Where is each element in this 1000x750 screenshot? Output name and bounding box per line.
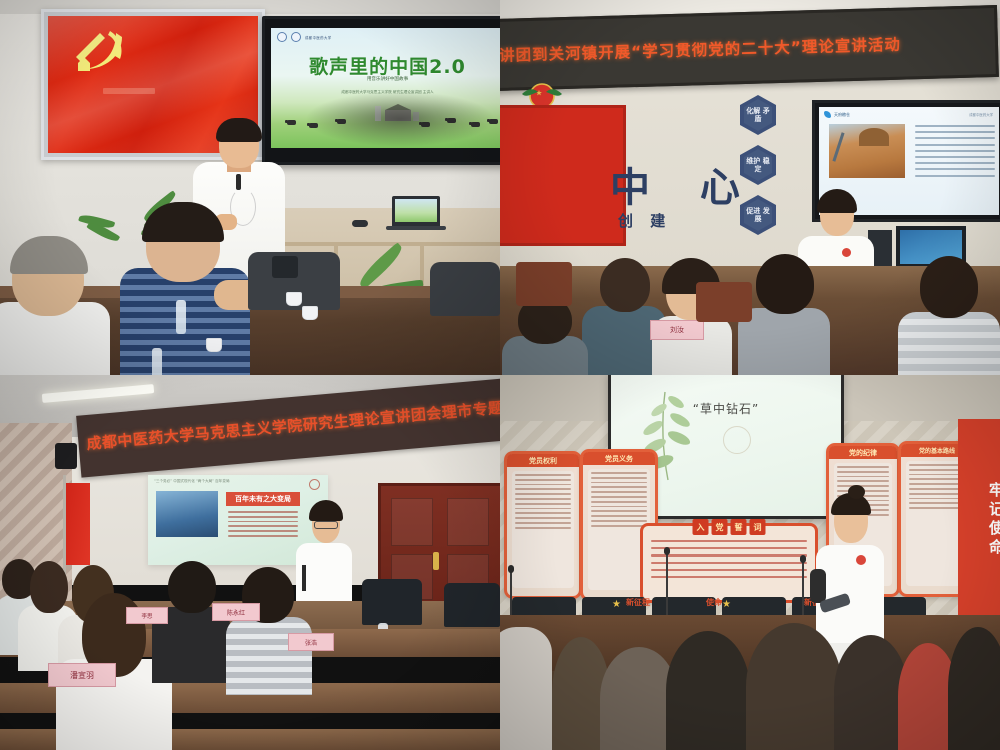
star-icon: ★ [722,599,731,610]
paper-cup [302,306,318,320]
poster-header: 党员权利 [507,454,579,467]
slide-photo [829,124,905,178]
audience-person [948,627,1000,750]
name-plate: 刘汝 [650,320,704,340]
door-handle[interactable] [433,552,439,570]
computer-mouse [352,220,368,227]
photo-panel-bottom-right: “草中钻石” 党员权利 党员义务 党的纪律 党的基本路线 [500,375,1000,750]
shelf-line [250,242,500,246]
slide-photo [156,491,218,537]
oath-text-lines [651,540,807,594]
slide-seal-icon [309,479,320,490]
photo-collage: 成都中医药大学 歌声里的中国2.0 用音乐讲好中国故事 成都中医药大学马克思主义… [0,0,1000,750]
water-bottle [176,300,186,334]
office-chair [430,262,500,316]
photo-panel-bottom-left: 成都中医药大学马克思主义学院研究生理论宣讲团会理市专题宣讲 “三个务必” 中国式… [0,375,500,750]
slide-logo-text: 成都中医药大学 [305,35,332,40]
vertical-banner: 牢记使命 [958,419,1000,615]
eyeglasses-icon [314,521,338,529]
oath-char-2: 党 [712,519,728,535]
poster-header: 党的纪律 [829,446,897,459]
desk-microphone [510,571,512,615]
slide-title: “草中钻石” [611,400,841,417]
audience-person [0,240,110,375]
name-plate: 张浩 [288,633,334,651]
hex-badge-1-label: 化解 矛盾 [744,99,772,131]
office-chair [444,583,500,627]
slide-bullets [915,125,995,181]
name-plate: 陈永红 [212,603,260,621]
audience-person [666,631,750,750]
audience-person [746,623,842,750]
oath-header: 入 党 誓 词 [693,519,766,535]
slide-subtitle: 用音乐讲好中国故事 [271,76,500,82]
audience-person [500,627,552,750]
handheld-microphone [810,569,826,603]
slide-header: “三个务必” 中国式现代化 “两个大局” 百年变局 [154,479,230,484]
paper-cup [206,338,222,352]
cow-icon [287,120,296,125]
red-notice-board [500,105,626,246]
star-icon: ★ [612,599,621,610]
slide-corner-text: 成都中医药大学 [969,112,993,117]
hex-badge-3-label: 促进 发展 [744,199,772,231]
slide-seal-icon [723,426,751,454]
poster-header: 党员义务 [583,452,655,465]
speaker-hair-bun [848,485,865,499]
slide-title: 歌声里的中国2.0 [271,52,500,79]
laptop-base [386,226,446,230]
led-banner-text: 讲团到关河镇开展“学习贯彻党的二十大”理论宣讲活动 [500,33,901,66]
laptop [392,196,440,228]
desk-object [272,256,298,278]
audience-person [226,567,312,695]
paper-cup [286,292,302,306]
wall-title: 中 心 [610,155,758,213]
slide-title: 百年未有之大变局 [226,492,300,506]
name-plate: 潘宣羽 [48,663,116,687]
national-flag [66,483,90,565]
speaker-hair [309,500,343,521]
desk-badge-2: 使命 [706,597,722,608]
university-seal-icon [277,32,287,42]
brand-icon [824,111,831,118]
photo-panel-top-right: 讲团到关河镇开展“学习贯彻党的二十大”理论宣讲活动 中 心 创 建 化解 矛盾 … [500,0,1000,375]
speaker-shirt [816,545,884,645]
audience-person [834,635,908,750]
hammer-sickle-icon [70,27,130,75]
oath-char-3: 誓 [731,519,747,535]
poster-body [512,471,574,588]
audience-person [502,296,588,375]
shirt-logo [842,248,851,257]
wall-speaker [55,443,77,469]
hex-badge-3: 促进 发展 [740,195,776,235]
speaker-hair [216,118,262,142]
desk-badge-1: 新征程 [626,597,650,608]
shirt-logo [856,555,866,565]
speaker-hair [817,189,857,213]
desk-microphone [666,553,668,615]
college-seal-icon [291,32,301,42]
photo-panel-top-left: 成都中医药大学 歌声里的中国2.0 用音乐讲好中国故事 成都中医药大学马克思主义… [0,0,500,375]
led-banner: 讲团到关河镇开展“学习贯彻党的二十大”理论宣讲活动 [500,5,999,91]
hex-badge-1: 化解 矛盾 [740,95,776,135]
hex-badge-2-label: 维护 稳定 [744,149,772,181]
hexagon-badge-group: 化解 矛盾 维护 稳定 促进 发展 [740,95,776,245]
wooden-chair [516,262,572,306]
name-plate: 李思 [126,607,168,624]
wall-subtitle: 创 建 [618,210,671,231]
flag-text-blur [103,88,155,94]
screen-glare [305,91,495,147]
oath-char-4: 词 [750,519,766,535]
office-chair [362,579,422,625]
slide-body-lines [228,511,298,540]
slide-logo-row: 成都中医药大学 [277,32,332,42]
slide-logo-row: 天府粮仓 [824,111,850,118]
oath-char-1: 入 [693,519,709,535]
audience-person [898,256,1000,375]
wooden-chair [696,282,752,322]
wall-poster: 党员权利 [504,451,582,599]
wall-tv: 成都中医药大学 歌声里的中国2.0 用音乐讲好中国故事 成都中医药大学马克思主义… [262,16,500,165]
slide-logo-text: 天府粮仓 [834,112,850,118]
water-bottle [152,348,162,375]
hex-badge-2: 维护 稳定 [740,145,776,185]
